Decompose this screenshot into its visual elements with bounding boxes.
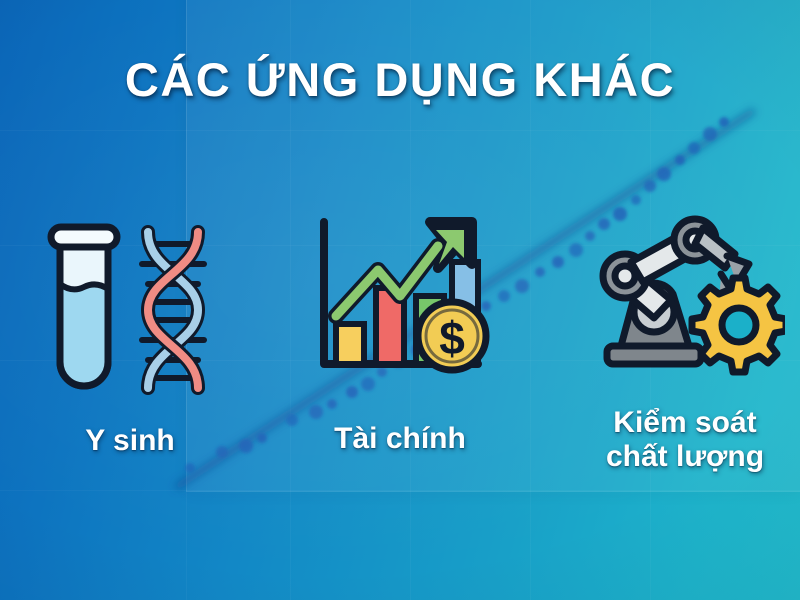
item-biomed[interactable]: Y sinh	[20, 212, 240, 458]
test-tube-dna-icon	[20, 212, 240, 402]
bar-yellow	[336, 324, 364, 364]
item-finance[interactable]: $ Tài chính	[290, 212, 510, 456]
item-biomed-label: Y sinh	[20, 424, 240, 458]
page-title: CÁC ỨNG DỤNG KHÁC	[0, 56, 800, 103]
test-tube-icon	[51, 227, 117, 386]
bar-chart-growth-coin-icon: $	[290, 212, 510, 402]
gear-icon	[692, 278, 785, 372]
slide-canvas: CÁC ỨNG DỤNG KHÁC	[0, 0, 800, 600]
item-quality-label: Kiểm soát chất lượng	[570, 406, 800, 473]
robot-arm-gear-icon	[570, 212, 800, 392]
dna-helix-icon	[142, 232, 204, 388]
item-finance-label: Tài chính	[290, 422, 510, 456]
dollar-coin-icon: $	[418, 302, 486, 370]
item-quality[interactable]: Kiểm soát chất lượng	[570, 212, 800, 473]
svg-text:$: $	[439, 312, 465, 364]
